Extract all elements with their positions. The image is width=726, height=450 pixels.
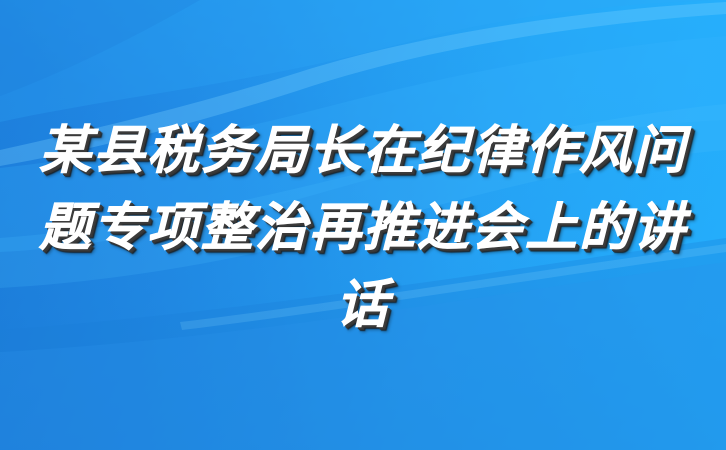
banner-title: 某县税务局长在纪律作风问 题专项整治再推进会上的讲 话: [0, 112, 726, 343]
title-line-2: 题专项整治再推进会上的讲: [0, 189, 726, 266]
title-line-1: 某县税务局长在纪律作风问: [0, 112, 726, 189]
title-banner: 某县税务局长在纪律作风问 题专项整治再推进会上的讲 话: [0, 0, 726, 450]
title-line-3: 话: [0, 266, 726, 343]
